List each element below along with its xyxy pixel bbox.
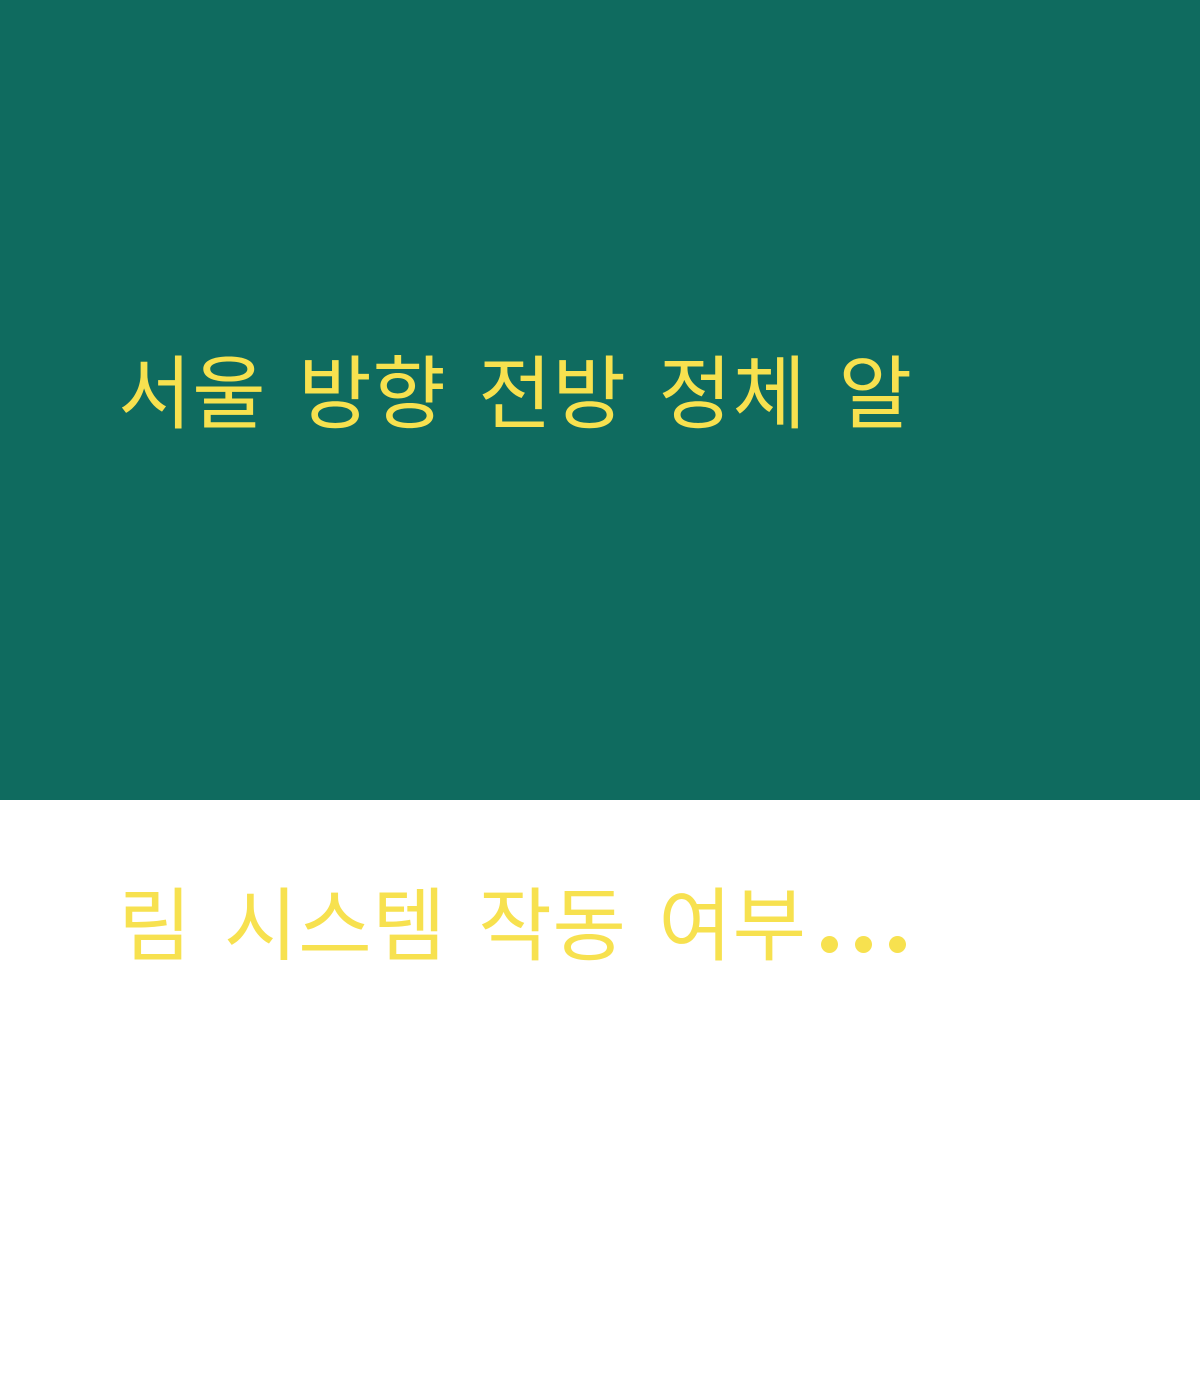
ellipsis-dot [855, 936, 872, 953]
headline-line-2: 서울 방향 전방 정체 알 [118, 328, 1090, 461]
page-title: 2026년 중부고속도로 서울 방향 전방 정체 알 림 시스템 작동 여부 [118, 0, 1090, 1397]
ellipsis-dot [821, 936, 838, 953]
headline-card: 2026년 중부고속도로 서울 방향 전방 정체 알 림 시스템 작동 여부 [0, 0, 1200, 800]
headline-line-3: 림 시스템 작동 여부 [118, 860, 1090, 999]
truncation-ellipsis-icon [821, 859, 906, 992]
headline-line-3-text: 림 시스템 작동 여부 [118, 880, 807, 973]
headline-block: 2026년 중부고속도로 서울 방향 전방 정체 알 림 시스템 작동 여부 [0, 0, 1200, 1397]
ellipsis-dot [889, 936, 906, 953]
